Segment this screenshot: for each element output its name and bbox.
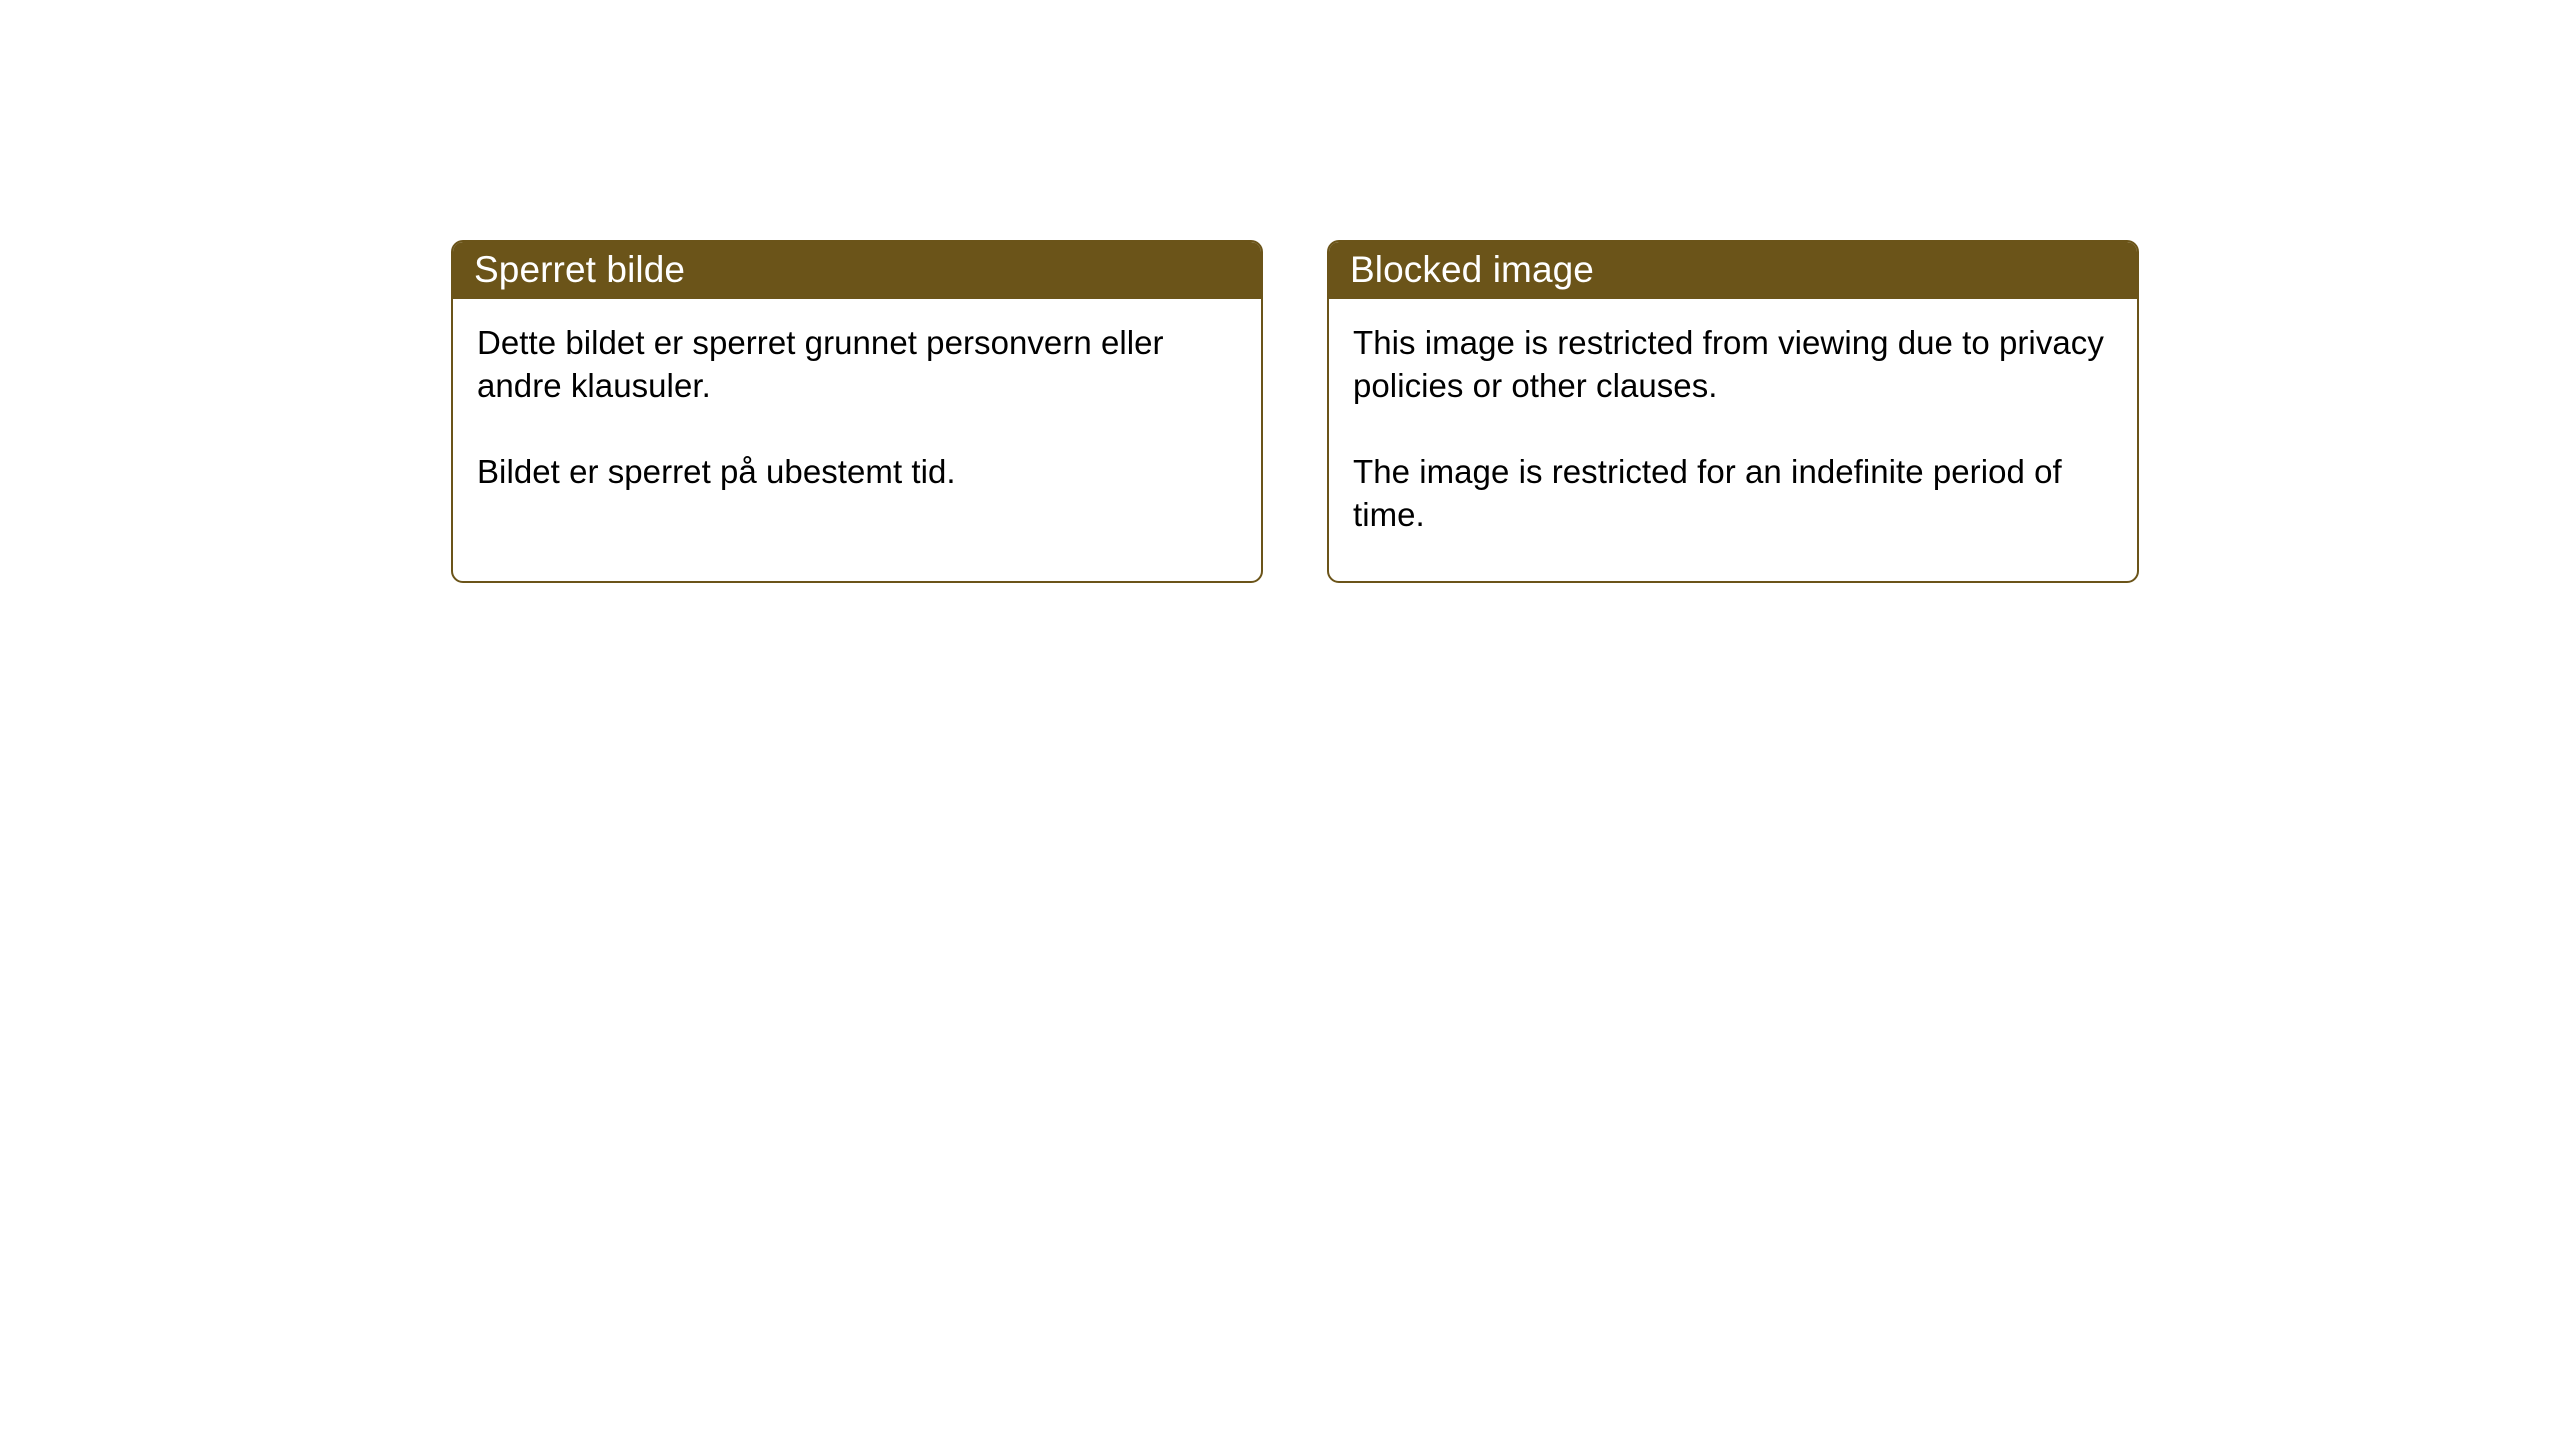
card-header-bar: Blocked image bbox=[1327, 240, 2139, 299]
card-body: Dette bildet er sperret grunnet personve… bbox=[453, 299, 1261, 493]
card-paragraph-secondary: The image is restricted for an indefinit… bbox=[1353, 450, 2111, 536]
card-body: This image is restricted from viewing du… bbox=[1329, 299, 2137, 536]
blocked-image-card-norwegian: Sperret bilde Dette bildet er sperret gr… bbox=[451, 240, 1263, 583]
card-title: Blocked image bbox=[1350, 251, 1594, 288]
card-paragraph-primary: This image is restricted from viewing du… bbox=[1353, 321, 2111, 407]
card-header-bar: Sperret bilde bbox=[451, 240, 1263, 299]
card-paragraph-primary: Dette bildet er sperret grunnet personve… bbox=[477, 321, 1235, 407]
blocked-image-card-english: Blocked image This image is restricted f… bbox=[1327, 240, 2139, 583]
notice-stage: Sperret bilde Dette bildet er sperret gr… bbox=[0, 0, 2560, 1440]
card-paragraph-secondary: Bildet er sperret på ubestemt tid. bbox=[477, 450, 1235, 493]
card-title: Sperret bilde bbox=[474, 251, 685, 288]
